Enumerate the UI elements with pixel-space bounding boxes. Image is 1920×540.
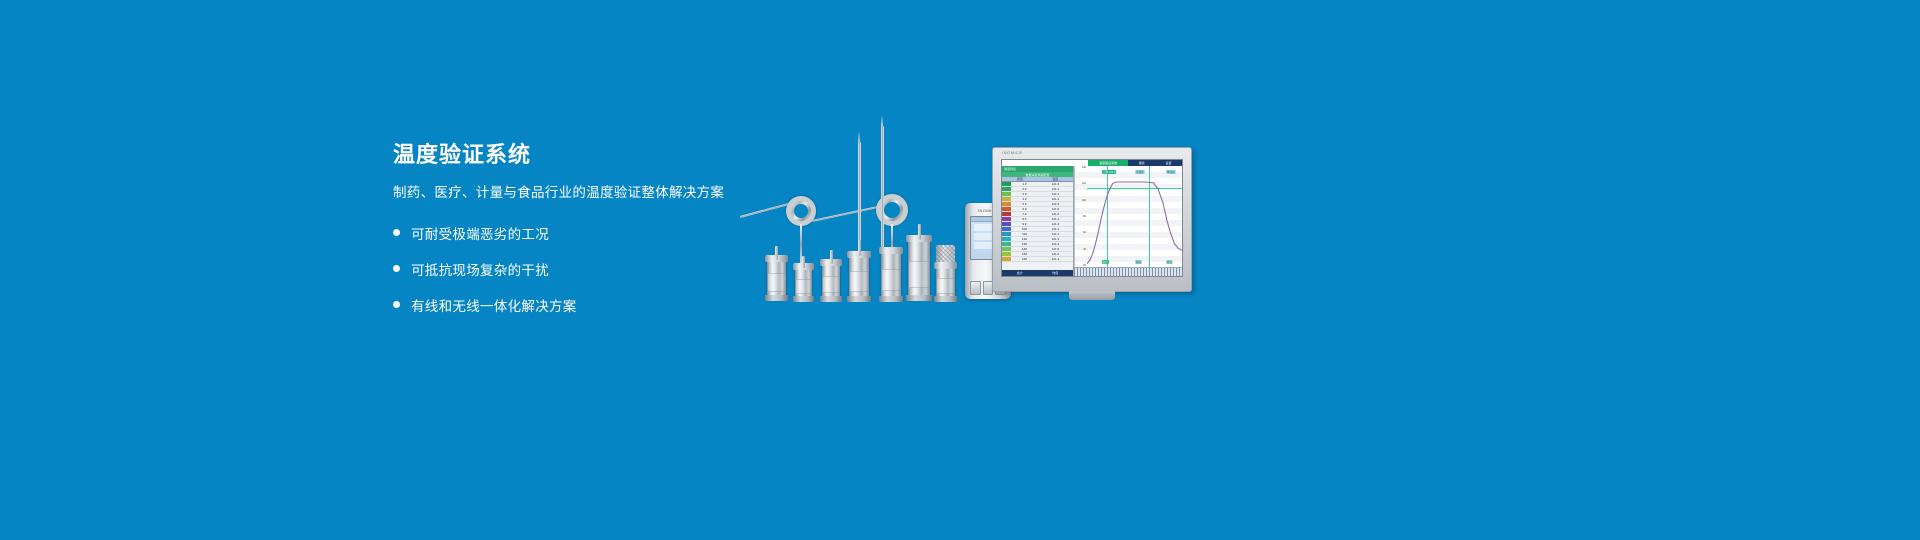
cell-temperature: 121.4: [1038, 257, 1073, 261]
data-logger: [795, 266, 812, 299]
hero-banner: 温度验证系统 制药、医疗、计量与食品行业的温度验证整体解决方案 可耐受极端恶劣的…: [0, 0, 1920, 540]
footer-average: 均值: [1038, 271, 1074, 275]
channel-color-swatch: [1002, 252, 1011, 256]
needle-probe-icon: [881, 126, 884, 262]
handheld-key[interactable]: [970, 281, 981, 295]
cell-channel: 1 #: [1011, 182, 1038, 186]
monitor-display: INOMICE 温度验证系统 报表 设置 通道列表 数据采集通道配置 通道: [992, 147, 1192, 292]
cell-temperature: 121.5: [1038, 247, 1073, 251]
cell-temperature: 121.4: [1038, 192, 1073, 196]
cell-channel: 5 #: [1011, 202, 1038, 206]
channel-color-swatch: [1002, 197, 1011, 201]
feature-label: 有线和无线一体化解决方案: [411, 295, 577, 315]
logger-stem: [858, 240, 861, 256]
bullet-dot-icon: [393, 265, 400, 272]
chart-y-tick: 80: [1075, 215, 1086, 218]
logger-stem: [918, 224, 921, 240]
software-screen: 温度验证系统 报表 设置 通道列表 数据采集通道配置 通道 温度 1 #121.…: [1001, 159, 1183, 277]
probe-wire: [740, 203, 791, 218]
chart-x-axis: [1074, 267, 1182, 276]
cell-channel: 10#: [1011, 227, 1038, 231]
cell-temperature: 121.3: [1038, 237, 1073, 241]
cell-channel: 16#: [1011, 257, 1038, 261]
chart-y-tick: 40: [1075, 248, 1086, 251]
cell-channel: 14#: [1011, 247, 1038, 251]
channel-color-swatch: [1002, 227, 1011, 231]
cell-temperature: 121.2: [1038, 242, 1073, 246]
cell-temperature: 121.3: [1038, 182, 1073, 186]
footer-total: 合计: [1002, 271, 1038, 275]
feature-list: 可耐受极端恶劣的工况 可抵抗现场复杂的干扰 有线和无线一体化解决方案: [393, 220, 793, 318]
chart-y-tick: 100: [1075, 199, 1086, 202]
page-title: 温度验证系统: [393, 142, 793, 168]
chart-y-axis: 14012010080604020: [1075, 166, 1087, 267]
chart-y-tick: 60: [1075, 231, 1086, 234]
cell-channel: 12#: [1011, 237, 1038, 241]
chart-y-tick: 140: [1075, 166, 1086, 169]
temperature-chart[interactable]: 14012010080604020 上限 121.0 灭菌段 降温段 起点 保温…: [1074, 166, 1182, 276]
table-row[interactable]: 16#121.4: [1002, 257, 1073, 262]
cell-temperature: 121.5: [1038, 202, 1073, 206]
list-item: 可耐受极端恶劣的工况: [393, 220, 793, 246]
channel-table[interactable]: 通道列表 数据采集通道配置 通道 温度 1 #121.32 #121.13 #1…: [1002, 166, 1074, 276]
hero-text-block: 温度验证系统 制药、医疗、计量与食品行业的温度验证整体解决方案 可耐受极端恶劣的…: [393, 142, 793, 328]
cell-channel: 3 #: [1011, 192, 1038, 196]
cell-temperature: 121.3: [1038, 222, 1073, 226]
list-item: 可抵抗现场复杂的干扰: [393, 256, 793, 282]
channel-color-swatch: [1002, 187, 1011, 191]
table-body[interactable]: 1 #121.32 #121.13 #121.44 #121.25 #121.5…: [1002, 182, 1073, 270]
data-logger: [849, 254, 869, 299]
data-logger: [908, 238, 930, 298]
probe-wire: [812, 206, 879, 222]
chart-plot-area[interactable]: 14012010080604020 上限 121.0 灭菌段 降温段 起点 保温…: [1074, 166, 1182, 267]
bullet-dot-icon: [393, 229, 400, 236]
channel-color-swatch: [1002, 202, 1011, 206]
cell-temperature: 121.0: [1038, 207, 1073, 211]
data-logger: [936, 265, 955, 299]
cell-temperature: 121.1: [1038, 227, 1073, 231]
feature-label: 可耐受极端恶劣的工况: [411, 223, 549, 243]
channel-color-swatch: [1002, 192, 1011, 196]
channel-color-swatch: [1002, 182, 1011, 186]
table-footer: 合计 均值: [1002, 270, 1073, 276]
cell-temperature: 121.1: [1038, 187, 1073, 191]
cell-channel: 13#: [1011, 242, 1038, 246]
cell-channel: 7 #: [1011, 212, 1038, 216]
column-header-temp: 温度: [1038, 177, 1074, 181]
cell-temperature: 121.6: [1038, 212, 1073, 216]
channel-color-swatch: [1002, 217, 1011, 221]
channel-color-swatch: [1002, 242, 1011, 246]
data-logger: [822, 262, 840, 299]
data-logger: [881, 250, 901, 299]
chart-y-tick: 20: [1075, 264, 1086, 267]
cell-channel: 9 #: [1011, 222, 1038, 226]
logger-stem: [802, 256, 805, 268]
chart-series-line: [1087, 166, 1182, 267]
channel-color-swatch: [1002, 222, 1011, 226]
channel-color-swatch: [1002, 247, 1011, 251]
hero-subtitle: 制药、医疗、计量与食品行业的温度验证整体解决方案: [393, 184, 793, 202]
cell-temperature: 121.0: [1038, 252, 1073, 256]
logger-stem: [775, 246, 778, 260]
monitor-stand: [1069, 291, 1115, 300]
logger-stem: [830, 250, 833, 264]
cell-channel: 15#: [1011, 252, 1038, 256]
channel-color-swatch: [1002, 237, 1011, 241]
cell-channel: 6 #: [1011, 207, 1038, 211]
data-logger: [767, 258, 786, 298]
column-header-channel: 通道: [1002, 177, 1038, 181]
cell-channel: 4 #: [1011, 197, 1038, 201]
monitor-brand-label: INOMICE: [1002, 150, 1023, 155]
product-photo-group: INOMICE INOMICE 温度验证系统 报表 设置: [740, 120, 1210, 310]
channel-color-swatch: [1002, 207, 1011, 211]
cell-channel: 2 #: [1011, 187, 1038, 191]
cell-temperature: 121.4: [1038, 232, 1073, 236]
cell-temperature: 121.2: [1038, 197, 1073, 201]
feature-label: 可抵抗现场复杂的干扰: [411, 259, 549, 279]
cell-channel: 8 #: [1011, 217, 1038, 221]
channel-color-swatch: [1002, 232, 1011, 236]
cell-temperature: 121.2: [1038, 217, 1073, 221]
channel-color-swatch: [1002, 212, 1011, 216]
chart-y-tick: 120: [1075, 182, 1086, 185]
bullet-dot-icon: [393, 301, 400, 308]
channel-color-swatch: [1002, 257, 1011, 261]
list-item: 有线和无线一体化解决方案: [393, 292, 793, 318]
cell-channel: 11#: [1011, 232, 1038, 236]
